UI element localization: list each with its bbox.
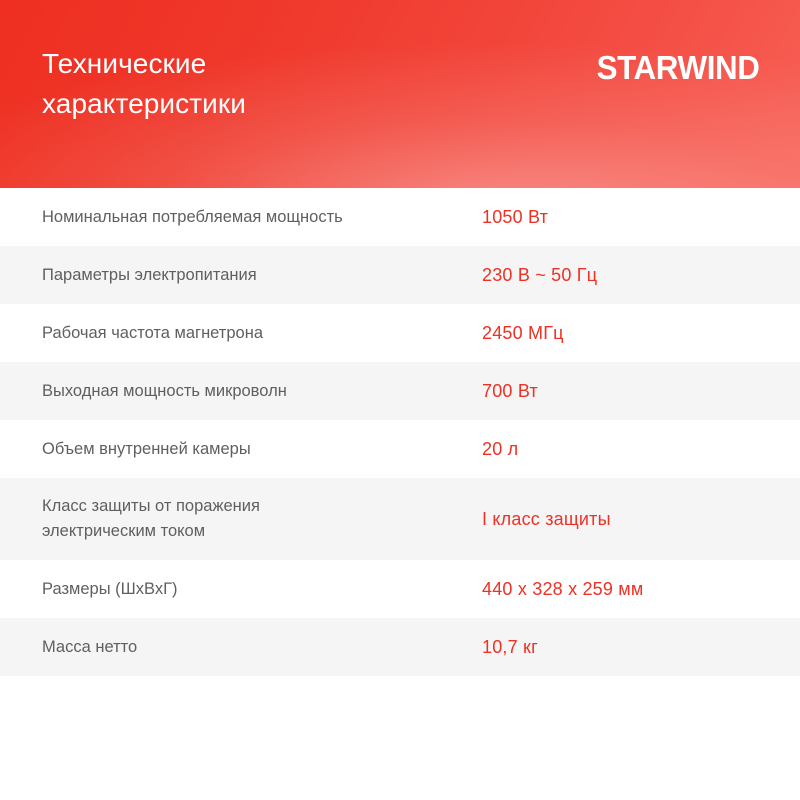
spec-value: 10,7 кг: [482, 634, 800, 660]
spec-value: 440 x 328 x 259 мм: [482, 576, 800, 602]
table-row: Параметры электропитания230 В ~ 50 Гц: [0, 246, 800, 304]
table-row: Номинальная потребляемая мощность1050 Вт: [0, 188, 800, 246]
spec-label: Класс защиты от поражения электрическим …: [0, 494, 482, 544]
spec-label: Размеры (ШхВхГ): [0, 577, 482, 602]
spec-sheet: Технические характеристики STARWIND Номи…: [0, 0, 800, 800]
spec-value: 2450 МГц: [482, 320, 800, 346]
header-content: Технические характеристики STARWIND: [0, 0, 800, 188]
page-header: Технические характеристики STARWIND: [0, 0, 800, 188]
spec-label: Выходная мощность микроволн: [0, 379, 482, 404]
table-bottom-spacer: [0, 676, 800, 800]
table-row: Класс защиты от поражения электрическим …: [0, 478, 800, 560]
spec-value: 1050 Вт: [482, 204, 800, 230]
spec-label: Параметры электропитания: [0, 263, 482, 288]
page-title: Технические характеристики: [42, 44, 246, 124]
spec-value: 20 л: [482, 436, 800, 462]
table-row: Размеры (ШхВхГ)440 x 328 x 259 мм: [0, 560, 800, 618]
table-row: Объем внутренней камеры20 л: [0, 420, 800, 478]
spec-label: Номинальная потребляемая мощность: [0, 205, 482, 230]
spec-value: 230 В ~ 50 Гц: [482, 262, 800, 288]
spec-value: I класс защиты: [482, 506, 800, 532]
spec-label: Объем внутренней камеры: [0, 437, 482, 462]
table-row: Выходная мощность микроволн700 Вт: [0, 362, 800, 420]
spec-value: 700 Вт: [482, 378, 800, 404]
table-row: Масса нетто10,7 кг: [0, 618, 800, 676]
spec-label: Масса нетто: [0, 635, 482, 660]
specifications-table: Номинальная потребляемая мощность1050 Вт…: [0, 188, 800, 800]
table-row: Рабочая частота магнетрона2450 МГц: [0, 304, 800, 362]
starwind-logo: STARWIND: [597, 50, 760, 86]
spec-label: Рабочая частота магнетрона: [0, 321, 482, 346]
